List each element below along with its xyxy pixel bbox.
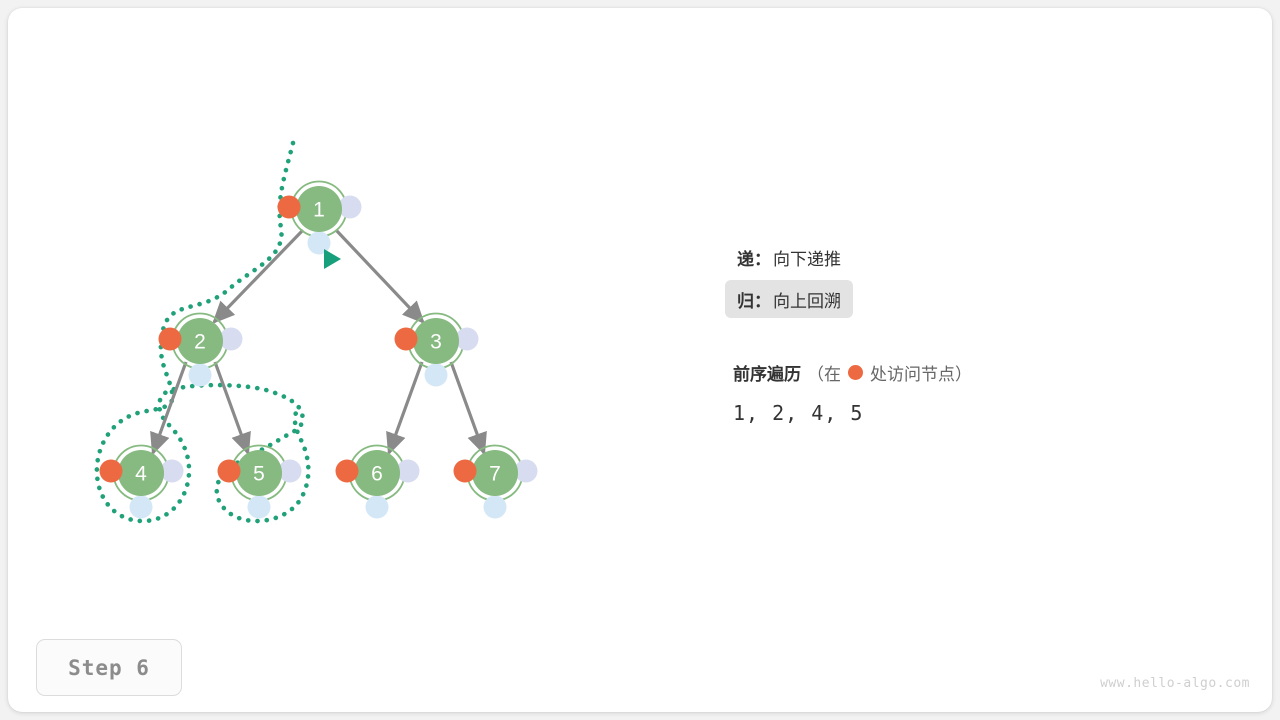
node-visit-dot: [278, 196, 301, 219]
node-visit-dot: [454, 460, 477, 483]
traversal-panel: 前序遍历 （在 处访问节点） 1, 2, 4, 5: [733, 360, 1253, 425]
traversal-heading: 前序遍历 （在 处访问节点）: [733, 360, 1253, 385]
edge-1-3: [336, 230, 423, 322]
node-label: 7: [489, 463, 501, 486]
traversal-paren-close: 处访问节点）: [870, 360, 972, 385]
legend-value-ascend: 向上回溯: [773, 287, 841, 312]
legend-value-descend: 向下递推: [773, 245, 841, 270]
tree-node-5[interactable]: 5: [218, 446, 302, 519]
node-bottom-dot: [248, 496, 271, 519]
recursion-legend: 递： 向下递推 归： 向上回溯: [725, 238, 1225, 322]
node-label: 5: [253, 463, 265, 486]
node-bottom-dot: [366, 496, 389, 519]
node-visit-dot: [218, 460, 241, 483]
node-right-dot: [397, 460, 420, 483]
edge-1-2: [214, 230, 303, 322]
node-right-dot: [456, 328, 479, 351]
traversal-sequence: 1, 2, 4, 5: [733, 401, 1253, 425]
screenshot-canvas: 1 2 3 4: [0, 0, 1280, 720]
node-bottom-dot: [425, 364, 448, 387]
recursion-pointer-icon: [324, 249, 341, 269]
edge-3-6: [389, 362, 422, 453]
legend-key-ascend: 归：: [737, 287, 771, 312]
legend-key-descend: 递：: [737, 245, 771, 270]
tree-node-2[interactable]: 2: [159, 314, 243, 387]
step-label: Step 6: [68, 656, 150, 680]
tree-node-7[interactable]: 7: [454, 446, 538, 519]
node-visit-dot: [336, 460, 359, 483]
traversal-title: 前序遍历: [733, 360, 801, 385]
node-bottom-dot: [130, 496, 153, 519]
node-bottom-dot: [484, 496, 507, 519]
tree-node-3[interactable]: 3: [395, 314, 479, 387]
node-label: 4: [135, 463, 147, 486]
traversal-paren-open: （在: [807, 360, 841, 385]
footer-url: www.hello-algo.com: [1100, 676, 1250, 691]
edge-2-5: [215, 362, 248, 453]
orange-visit-dot-icon: [848, 365, 863, 380]
step-badge: Step 6: [36, 639, 182, 696]
tree-node-6[interactable]: 6: [336, 446, 420, 519]
edge-3-7: [451, 362, 484, 453]
tree-node-4[interactable]: 4: [100, 446, 184, 519]
node-label: 1: [313, 199, 325, 222]
node-right-dot: [515, 460, 538, 483]
legend-row-ascend: 归： 向上回溯: [725, 280, 853, 318]
node-label: 3: [430, 331, 442, 354]
node-visit-dot: [395, 328, 418, 351]
node-right-dot: [161, 460, 184, 483]
node-visit-dot: [100, 460, 123, 483]
legend-row-descend: 递： 向下递推: [725, 238, 853, 276]
node-right-dot: [339, 196, 362, 219]
node-bottom-dot: [189, 364, 212, 387]
node-right-dot: [220, 328, 243, 351]
node-label: 2: [194, 331, 206, 354]
node-right-dot: [279, 460, 302, 483]
node-visit-dot: [159, 328, 182, 351]
node-label: 6: [371, 463, 383, 486]
